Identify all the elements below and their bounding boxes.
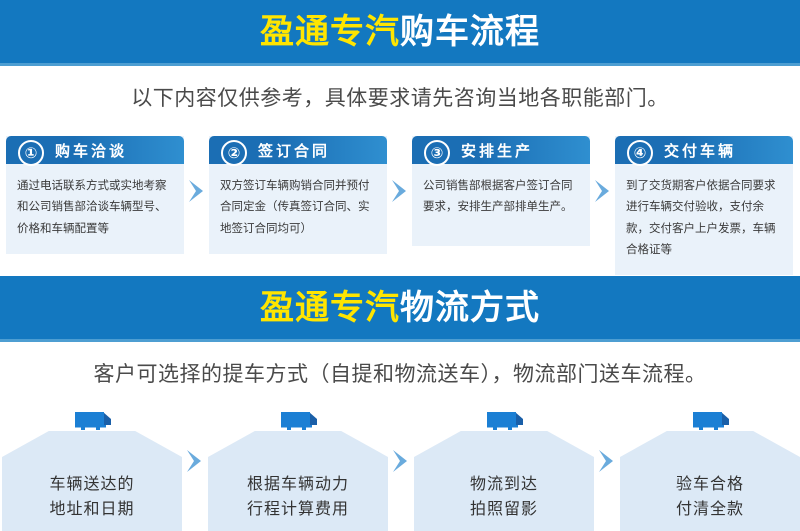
logistics-label-2: 根据车辆动力 行程计算费用 bbox=[208, 473, 388, 523]
step-title-4: 交付车辆 bbox=[664, 140, 736, 161]
step-body-4: 到了交货期客户依据合同要求进行车辆交付验收，支付余款，交付客户上户发票，车辆合格… bbox=[615, 164, 793, 275]
truck-icon bbox=[70, 408, 114, 432]
step-number-3: ③ bbox=[424, 140, 450, 166]
step-card-3[interactable]: ③ 安排生产 公司销售部根据客户签订合同要求，安排生产部排单生产。 bbox=[412, 136, 590, 246]
logistics-label-1: 车辆送达的 地址和日期 bbox=[2, 473, 182, 523]
infographic-page: 盈通专汽购车流程 以下内容仅供参考，具体要求请先咨询当地各职能部门。 ① 购车洽… bbox=[0, 0, 800, 531]
banner-purchase-process: 盈通专汽购车流程 bbox=[0, 0, 800, 66]
banner-2-title: 盈通专汽物流方式 bbox=[260, 291, 540, 325]
logistics-label-4: 验车合格 付清全款 bbox=[620, 473, 800, 523]
banner-2-heading: 物流方式 bbox=[400, 289, 540, 327]
banner-2-brand: 盈通专汽 bbox=[260, 289, 400, 327]
step-card-4[interactable]: ④ 交付车辆 到了交货期客户依据合同要求进行车辆交付验收，支付余款，交付客户上户… bbox=[615, 136, 793, 275]
step-number-4: ④ bbox=[627, 140, 653, 166]
chevron-right-icon bbox=[184, 178, 209, 204]
step-card-4-header: ④ 交付车辆 bbox=[615, 136, 793, 164]
chevron-right-icon bbox=[182, 408, 208, 531]
banner-logistics: 盈通专汽物流方式 bbox=[0, 276, 800, 342]
banner-1-title: 盈通专汽购车流程 bbox=[260, 15, 540, 49]
chevron-right-icon bbox=[594, 408, 620, 531]
logistics-label-4-line1: 验车合格 bbox=[620, 473, 800, 498]
step-card-2[interactable]: ② 签订合同 双方签订车辆购销合同并预付合同定金（传真签订合同、实地签订合同均可… bbox=[209, 136, 387, 254]
banner-1-heading: 购车流程 bbox=[400, 13, 540, 51]
step-title-2: 签订合同 bbox=[258, 140, 330, 161]
subtitle-purchase: 以下内容仅供参考，具体要求请先咨询当地各职能部门。 bbox=[0, 82, 800, 112]
logistics-label-3: 物流到达 拍照留影 bbox=[414, 473, 594, 523]
step-body-1: 通过电话联系方式或实地考察和公司销售部洽谈车辆型号、价格和车辆配置等 bbox=[6, 164, 184, 254]
step-card-2-header: ② 签订合同 bbox=[209, 136, 387, 164]
step-body-2: 双方签订车辆购销合同并预付合同定金（传真签订合同、实地签订合同均可） bbox=[209, 164, 387, 254]
logistics-label-2-line2: 行程计算费用 bbox=[208, 498, 388, 523]
banner-1-brand: 盈通专汽 bbox=[260, 13, 400, 51]
logistics-label-1-line1: 车辆送达的 bbox=[2, 473, 182, 498]
logistics-item-4[interactable]: 验车合格 付清全款 bbox=[620, 408, 800, 531]
subtitle-logistics: 客户可选择的提车方式（自提和物流送车），物流部门送车流程。 bbox=[0, 358, 800, 388]
chevron-right-icon bbox=[388, 408, 414, 531]
logistics-label-2-line1: 根据车辆动力 bbox=[208, 473, 388, 498]
logistics-label-3-line1: 物流到达 bbox=[414, 473, 594, 498]
logistics-item-3[interactable]: 物流到达 拍照留影 bbox=[414, 408, 594, 531]
step-card-1[interactable]: ① 购车洽谈 通过电话联系方式或实地考察和公司销售部洽谈车辆型号、价格和车辆配置… bbox=[6, 136, 184, 254]
chevron-right-icon bbox=[590, 178, 615, 204]
chevron-right-icon bbox=[387, 178, 412, 204]
logistics-label-1-line2: 地址和日期 bbox=[2, 498, 182, 523]
logistics-item-1[interactable]: 车辆送达的 地址和日期 bbox=[2, 408, 182, 531]
logistics-label-4-line2: 付清全款 bbox=[620, 498, 800, 523]
truck-icon bbox=[688, 408, 732, 432]
step-title-1: 购车洽谈 bbox=[55, 140, 127, 161]
logistics-item-2[interactable]: 根据车辆动力 行程计算费用 bbox=[208, 408, 388, 531]
step-body-3: 公司销售部根据客户签订合同要求，安排生产部排单生产。 bbox=[412, 164, 590, 246]
step-number-2: ② bbox=[221, 140, 247, 166]
step-number-1: ① bbox=[18, 140, 44, 166]
step-card-1-header: ① 购车洽谈 bbox=[6, 136, 184, 164]
step-title-3: 安排生产 bbox=[461, 140, 533, 161]
logistics-steps-row: 车辆送达的 地址和日期 根据车辆动力 行程计算 bbox=[2, 408, 798, 531]
step-card-3-header: ③ 安排生产 bbox=[412, 136, 590, 164]
purchase-steps-row: ① 购车洽谈 通过电话联系方式或实地考察和公司销售部洽谈车辆型号、价格和车辆配置… bbox=[6, 136, 796, 246]
truck-icon bbox=[482, 408, 526, 432]
logistics-label-3-line2: 拍照留影 bbox=[414, 498, 594, 523]
truck-icon bbox=[276, 408, 320, 432]
